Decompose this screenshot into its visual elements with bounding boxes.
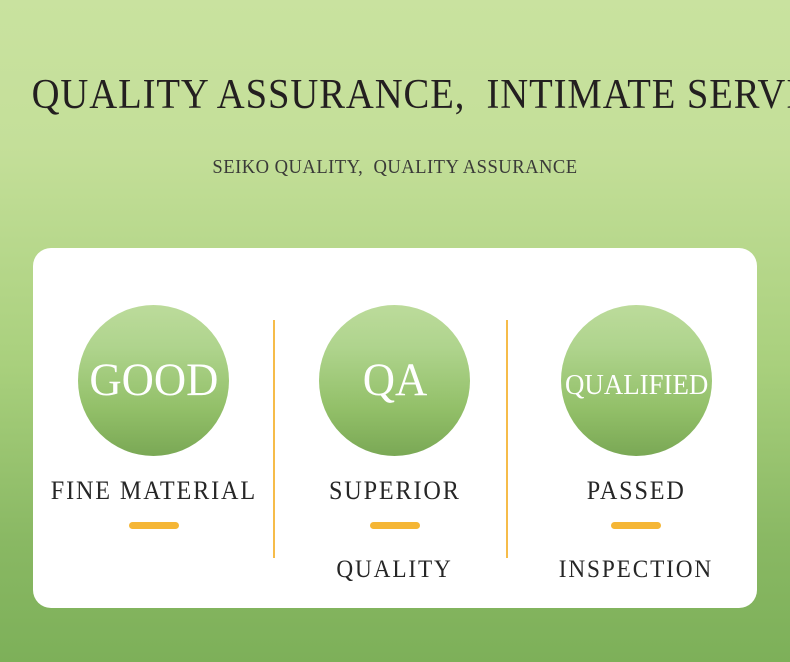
page-subtitle: SEIKO QUALITY, QUALITY ASSURANCE xyxy=(28,156,763,179)
feature-caption: PASSED xyxy=(587,476,686,506)
features-card: GOOD FINE MATERIAL QA SUPERIOR QUALITY Q… xyxy=(33,248,757,608)
badge-circle-qa: QA xyxy=(319,305,470,456)
accent-dash xyxy=(611,522,661,529)
features-columns: GOOD FINE MATERIAL QA SUPERIOR QUALITY Q… xyxy=(33,248,757,608)
feature-column-inspection: QUALIFIED PASSED INSPECTION xyxy=(516,248,757,608)
feature-caption-line2: QUALITY xyxy=(337,556,453,586)
badge-circle-label: QUALIFIED xyxy=(565,361,708,401)
feature-column-quality: QA SUPERIOR QUALITY xyxy=(274,248,515,608)
badge-circle-qualified: QUALIFIED xyxy=(561,305,712,456)
header-block: QUALITY ASSURANCE, INTIMATE SERVICE SEIK… xyxy=(0,0,790,179)
badge-circle-good: GOOD xyxy=(78,305,229,456)
feature-caption-line2: INSPECTION xyxy=(559,556,713,586)
feature-column-material: GOOD FINE MATERIAL xyxy=(33,248,274,608)
quality-assurance-banner: QUALITY ASSURANCE, INTIMATE SERVICE SEIK… xyxy=(0,0,790,662)
feature-caption: FINE MATERIAL xyxy=(51,476,257,506)
page-title: QUALITY ASSURANCE, INTIMATE SERVICE xyxy=(32,72,759,118)
accent-dash xyxy=(129,522,179,529)
feature-caption: SUPERIOR xyxy=(329,476,461,506)
badge-circle-label: QA xyxy=(363,357,427,404)
accent-dash xyxy=(370,522,420,529)
badge-circle-label: GOOD xyxy=(89,357,218,404)
